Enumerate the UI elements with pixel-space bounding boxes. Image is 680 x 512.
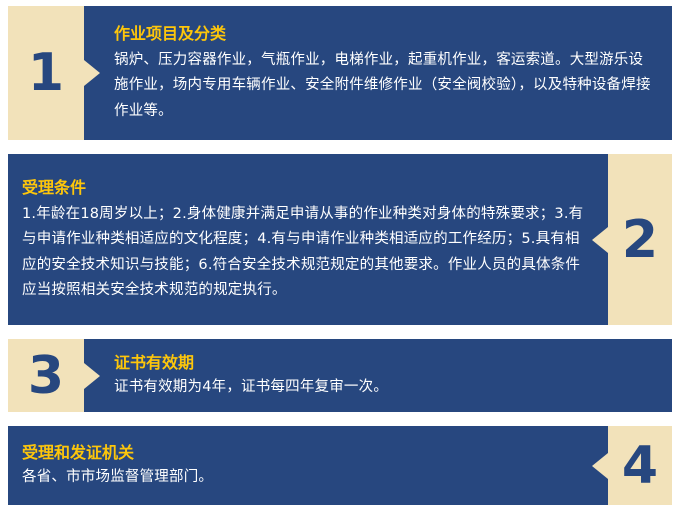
number-plate-1: 1 <box>8 6 84 140</box>
step-number-3: 3 <box>28 350 64 402</box>
arrow-left-icon-2 <box>592 227 608 253</box>
arrow-left-icon-4 <box>592 453 608 479</box>
text-panel-4: 受理和发证机关 各省、市市场监督管理部门。 <box>8 426 608 505</box>
number-plate-2: 2 <box>608 154 672 325</box>
number-plate-3: 3 <box>8 339 84 412</box>
step-number-1: 1 <box>28 47 64 99</box>
info-block-3: 3 证书有效期 证书有效期为4年，证书每四年复审一次。 <box>8 339 672 412</box>
block-title-1: 作业项目及分类 <box>114 22 656 46</box>
text-panel-2: 受理条件 1.年龄在18周岁以上；2.身体健康并满足申请从事的作业种类对身体的特… <box>8 154 608 325</box>
arrow-right-icon-3 <box>84 363 100 389</box>
arrow-right-icon-1 <box>84 60 100 86</box>
text-panel-3: 证书有效期 证书有效期为4年，证书每四年复审一次。 <box>84 339 672 412</box>
block-body-2: 1.年龄在18周岁以上；2.身体健康并满足申请从事的作业种类对身体的特殊要求；3… <box>22 202 586 304</box>
text-panel-1: 作业项目及分类 锅炉、压力容器作业，气瓶作业，电梯作业，起重机作业，客运索道。大… <box>84 6 672 140</box>
block-title-3: 证书有效期 <box>114 351 656 375</box>
block-body-3: 证书有效期为4年，证书每四年复审一次。 <box>114 375 656 400</box>
block-body-4: 各省、市市场监督管理部门。 <box>22 465 586 490</box>
step-number-4: 4 <box>622 440 658 492</box>
step-number-2: 2 <box>622 214 658 266</box>
info-block-1: 1 作业项目及分类 锅炉、压力容器作业，气瓶作业，电梯作业，起重机作业，客运索道… <box>8 6 672 140</box>
block-title-4: 受理和发证机关 <box>22 441 586 465</box>
info-block-2: 受理条件 1.年龄在18周岁以上；2.身体健康并满足申请从事的作业种类对身体的特… <box>8 154 672 325</box>
info-block-4: 受理和发证机关 各省、市市场监督管理部门。 4 <box>8 426 672 505</box>
number-plate-4: 4 <box>608 426 672 505</box>
infographic-container: 1 作业项目及分类 锅炉、压力容器作业，气瓶作业，电梯作业，起重机作业，客运索道… <box>0 0 680 512</box>
block-body-1: 锅炉、压力容器作业，气瓶作业，电梯作业，起重机作业，客运索道。大型游乐设施作业，… <box>114 48 656 124</box>
block-title-2: 受理条件 <box>22 176 586 200</box>
